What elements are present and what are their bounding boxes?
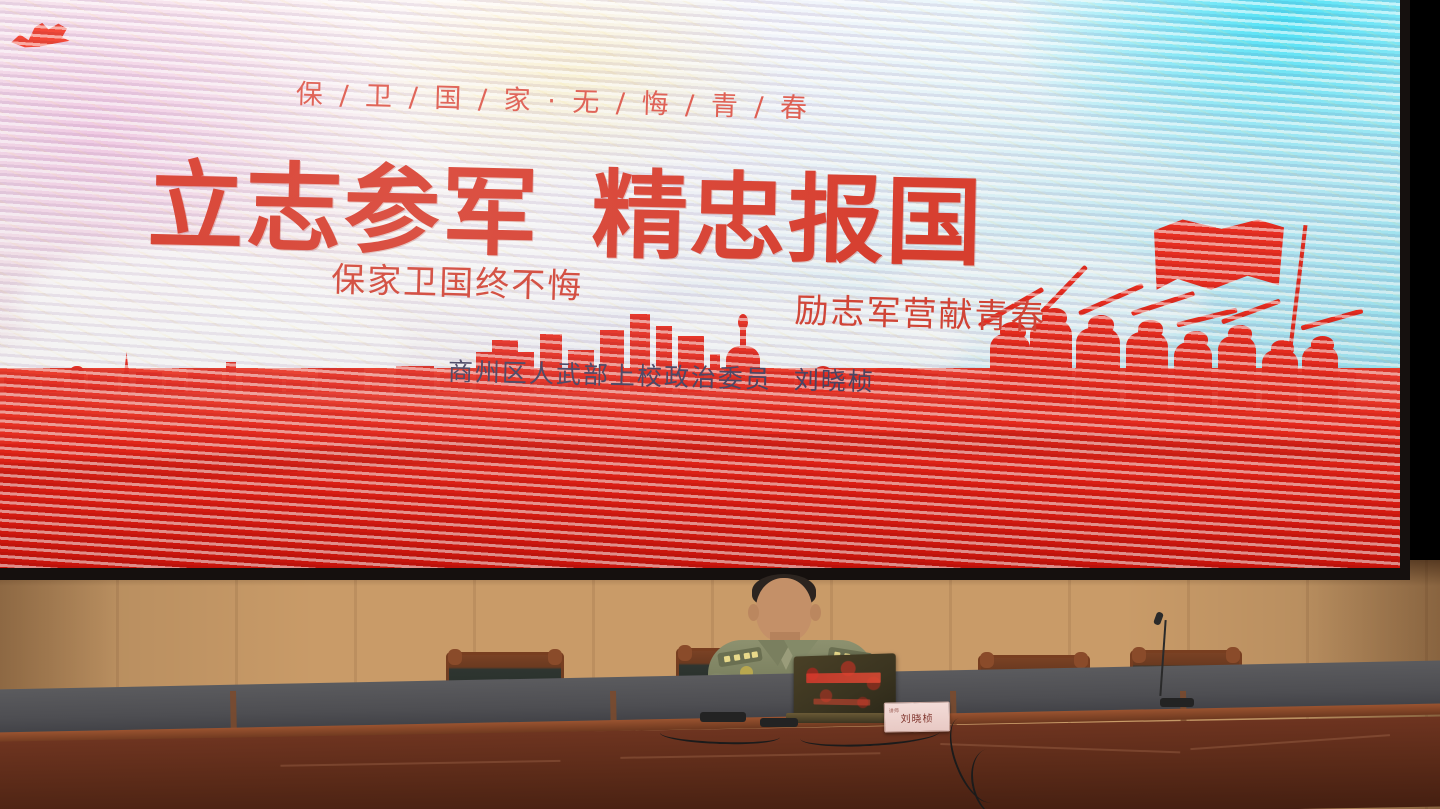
slide-headline: 立志参军精忠报国 <box>147 128 1250 290</box>
led-screen: 保 / 卫 / 国 / 家 · 无 / 悔 / 青 / 春 立志参军精忠报国 保… <box>0 0 1400 568</box>
credit-title: 商州区人武部上校政治委员 <box>448 357 773 394</box>
subtitle-right: 励志军营献青春 <box>794 283 1047 339</box>
placard-name: 刘晓桢 <box>900 709 933 725</box>
slide-text-layer: 保 / 卫 / 国 / 家 · 无 / 悔 / 青 / 春 立志参军精忠报国 保… <box>0 0 1400 568</box>
laptop-lid-subtext <box>814 699 871 706</box>
laptop-lid <box>794 653 896 719</box>
camouflage-laptop <box>790 655 894 723</box>
headline-right: 精忠报国 <box>591 159 985 279</box>
slide-tagline: 保 / 卫 / 国 / 家 · 无 / 悔 / 青 / 春 <box>295 72 1136 134</box>
device-base <box>760 718 798 727</box>
subtitle-left: 保家卫国终不悔 <box>331 252 584 308</box>
placard-small-label: 讲师 <box>889 707 899 714</box>
slide-speaker-credit: 商州区人武部上校政治委员刘晓桢 <box>448 352 876 398</box>
laptop-base <box>786 713 898 723</box>
laptop-lid-text <box>806 672 880 683</box>
credit-name: 刘晓桢 <box>794 365 876 396</box>
ear-left <box>748 604 759 621</box>
mic-base-speaker <box>700 712 746 722</box>
presentation-photo-scene: 保 / 卫 / 国 / 家 · 无 / 悔 / 青 / 春 立志参军精忠报国 保… <box>0 0 1440 809</box>
ear-right <box>810 604 821 621</box>
